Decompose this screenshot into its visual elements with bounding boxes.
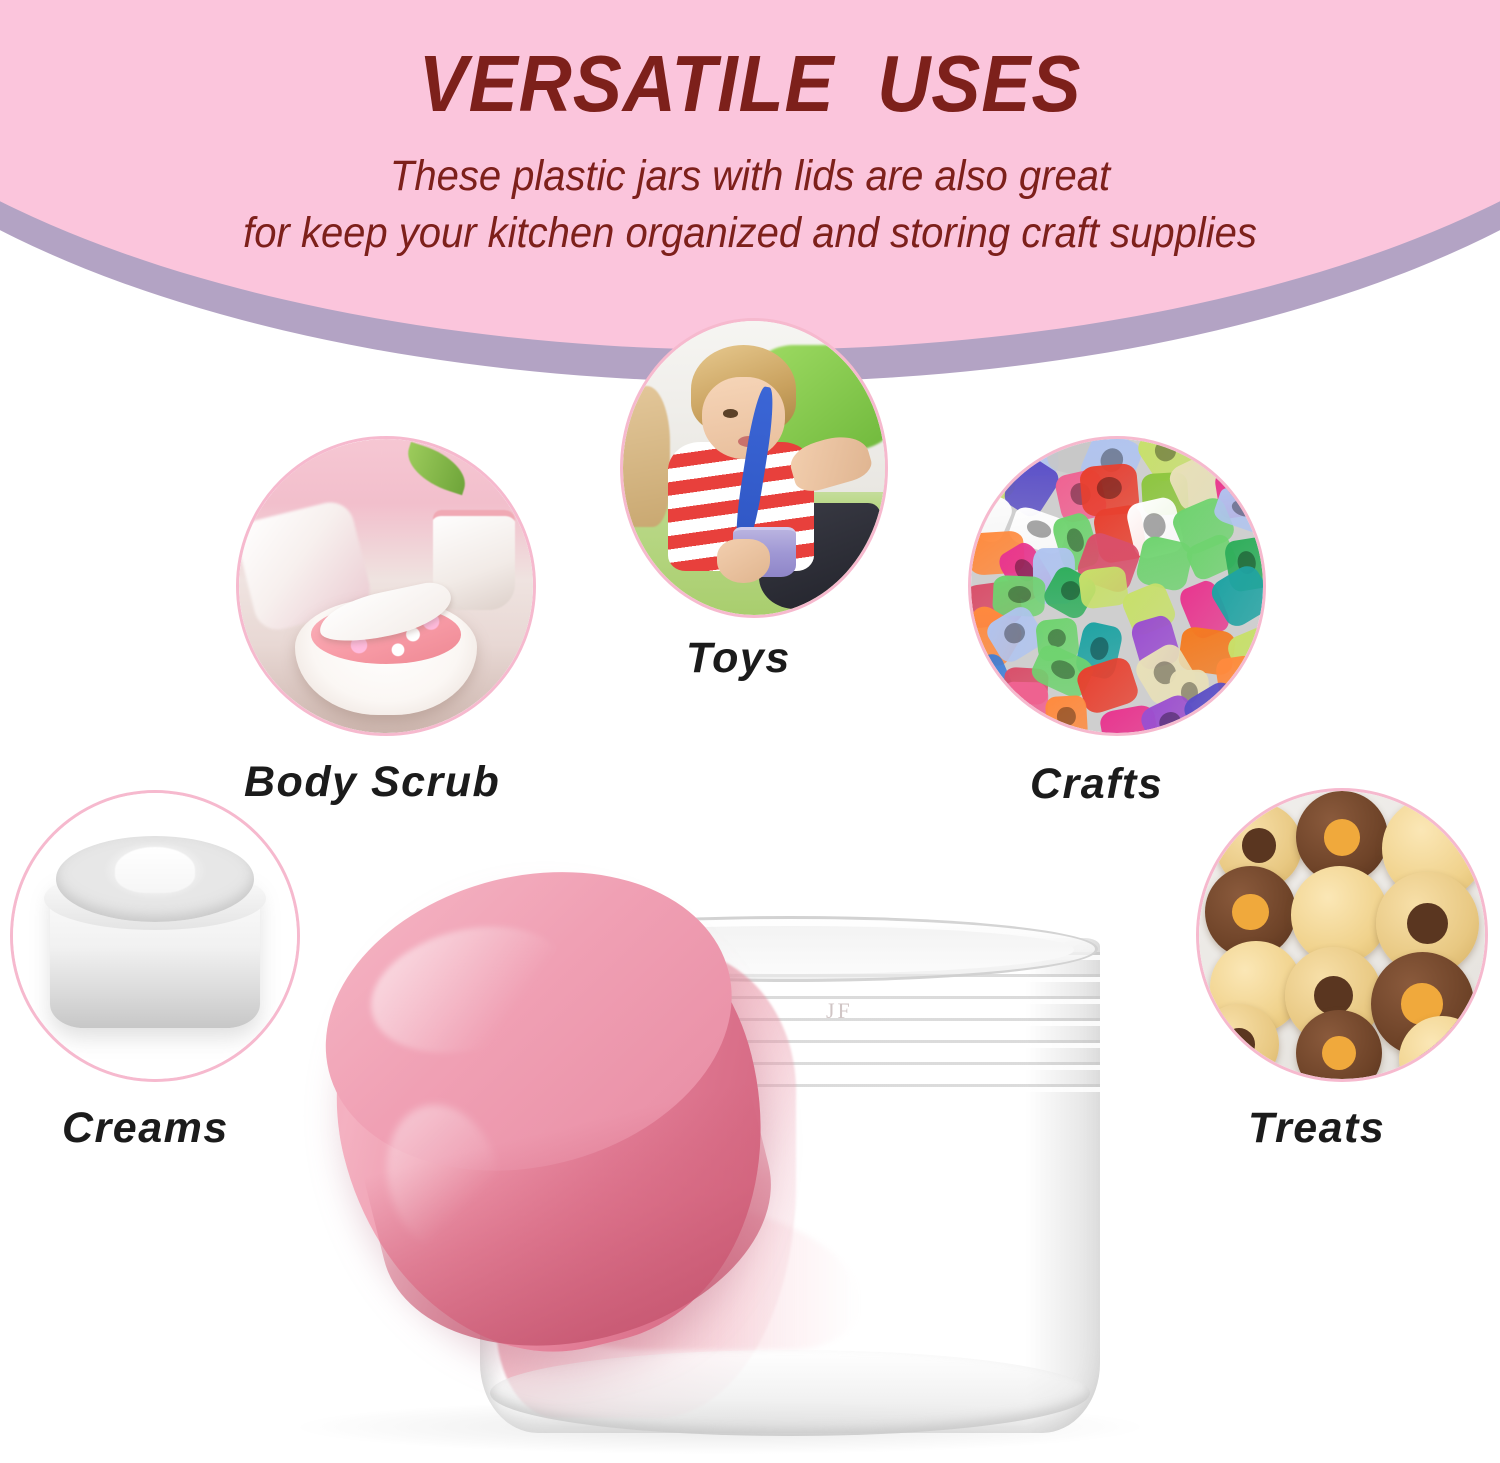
cookie-center: [1322, 1036, 1356, 1071]
product-photo-jar-with-lid: JF: [330, 880, 1140, 1463]
use-case-image-creams: [10, 790, 300, 1082]
crafts-beads-photo: [971, 439, 1263, 733]
child-eye-left: [723, 409, 739, 418]
background-child-hair: [623, 386, 670, 527]
page-subtitle: These plastic jars with lids are also gr…: [53, 148, 1448, 262]
subtitle-line-2: for keep your kitchen organized and stor…: [53, 205, 1448, 262]
body-scrub-photo: [239, 439, 533, 733]
use-case-image-body-scrub: [236, 436, 536, 736]
jar-base: [490, 1350, 1090, 1436]
butter-cookie: [1199, 1004, 1279, 1079]
craft-bead: [1135, 535, 1196, 594]
use-case-image-toys: [620, 318, 888, 618]
child-face: [702, 377, 786, 459]
use-case-label-body-scrub: Body Scrub: [244, 758, 500, 807]
jar-emboss-text: JF: [826, 998, 853, 1024]
cookie-center: [1223, 1028, 1255, 1060]
creams-photo: [13, 793, 297, 1079]
cookie-center: [1407, 903, 1448, 944]
treats-cookies-photo: [1199, 791, 1485, 1079]
use-case-label-creams: Creams: [62, 1104, 229, 1153]
craft-bead: [1001, 682, 1049, 733]
cream-peak: [115, 847, 195, 893]
use-case-label-toys: Toys: [686, 634, 791, 683]
craft-bead: [1229, 439, 1263, 464]
cookie-center: [1242, 828, 1276, 863]
use-case-image-crafts: [968, 436, 1266, 736]
child-hand: [717, 539, 769, 583]
cookie-center: [1324, 819, 1361, 856]
use-case-image-treats: [1196, 788, 1488, 1082]
infographic-page: VERSATILE USES These plastic jars with l…: [0, 0, 1500, 1463]
cookie-center: [1232, 894, 1269, 931]
craft-bead: [1045, 695, 1089, 733]
craft-bead: [1077, 566, 1128, 611]
use-case-label-treats: Treats: [1248, 1104, 1385, 1153]
cookie-center: [1314, 976, 1353, 1015]
toys-photo: [623, 321, 885, 615]
page-title: VERSATILE USES: [60, 44, 1440, 124]
subtitle-line-1: These plastic jars with lids are also gr…: [53, 148, 1448, 205]
use-case-label-crafts: Crafts: [1030, 760, 1163, 809]
